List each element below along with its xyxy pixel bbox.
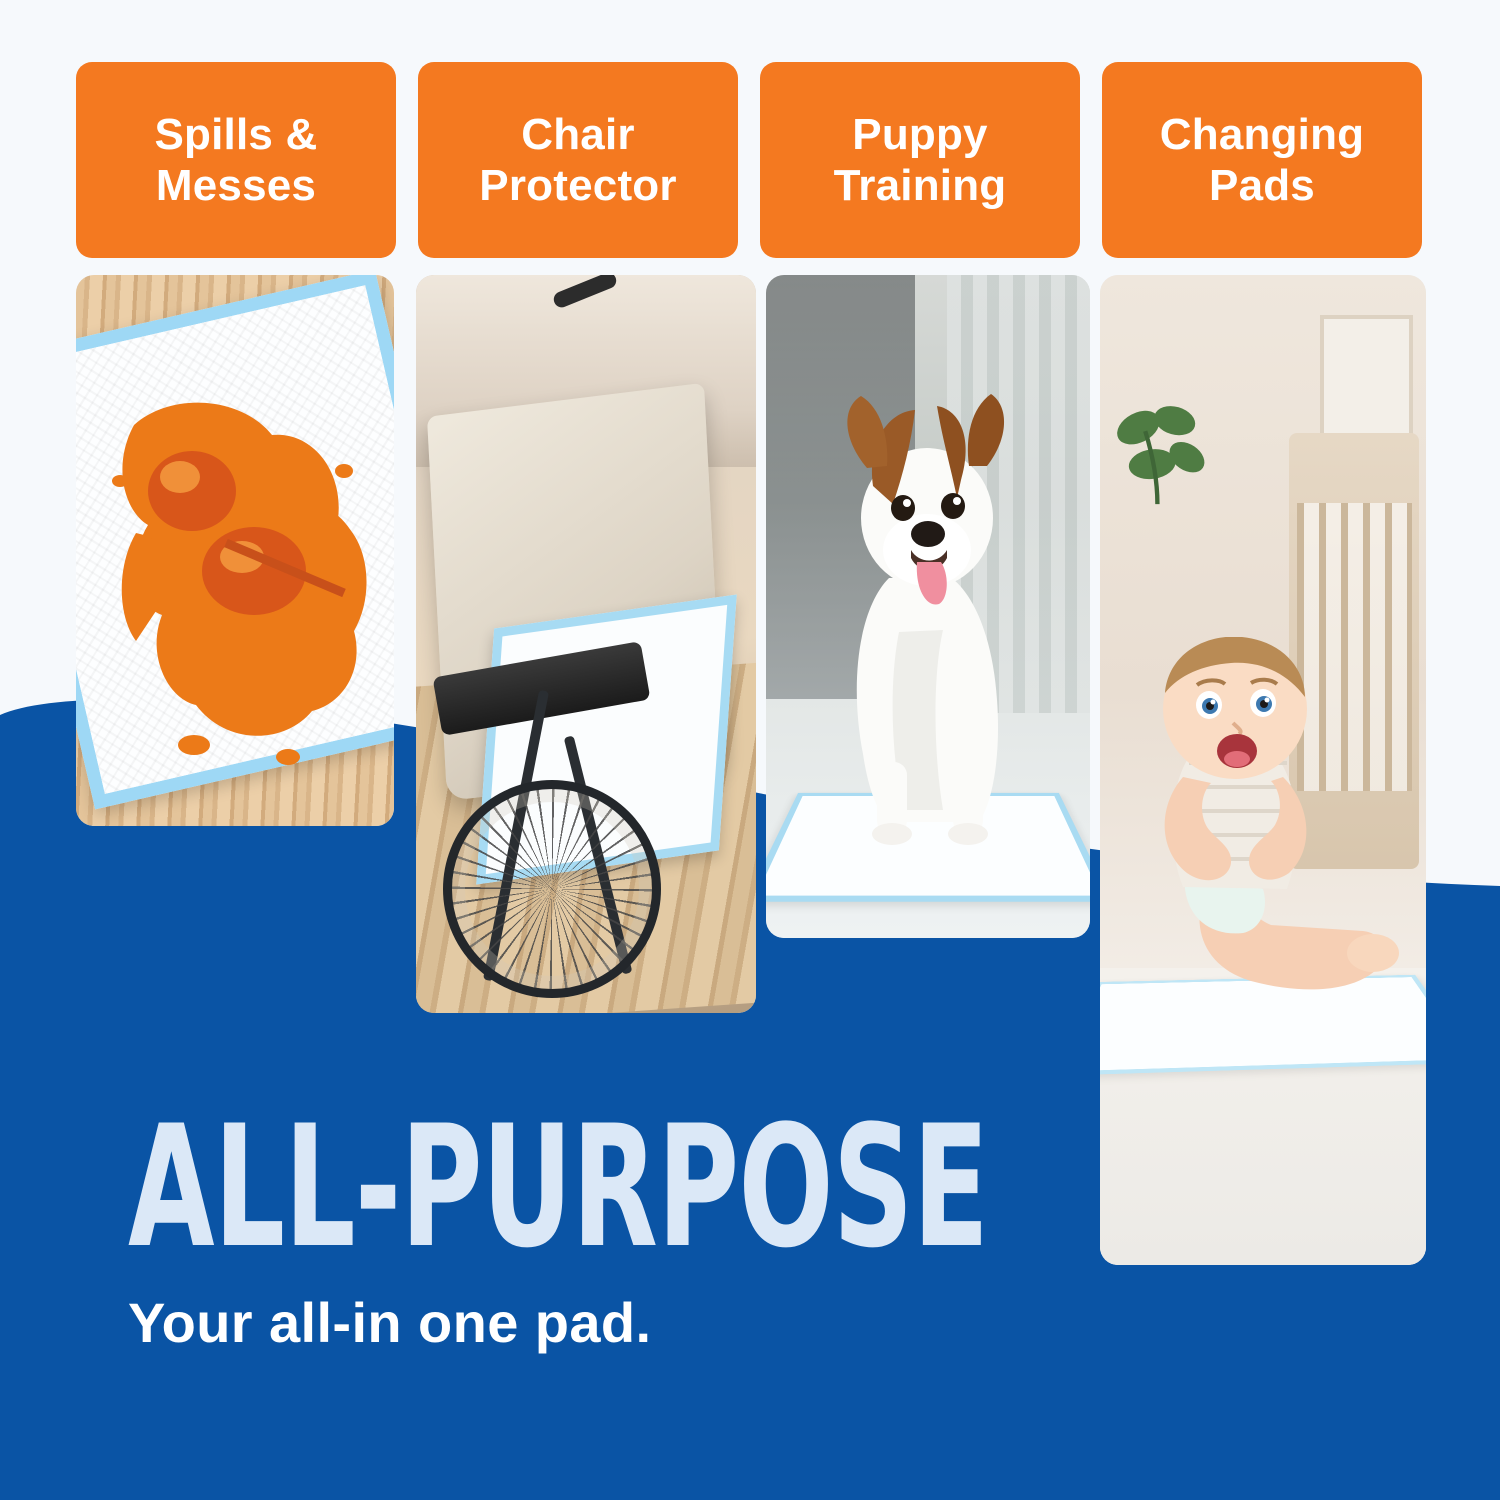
product-banner: Spills & Messes Chair Protector Puppy Tr…: [0, 0, 1500, 1500]
caramel-spill-graphic: [76, 275, 394, 826]
puppy-training-photo: [766, 275, 1090, 938]
wheelchair-wheel: [443, 780, 661, 998]
jack-russell-terrier: [803, 382, 1053, 852]
headline-block: ALL-PURPOSE Your all-in one pad.: [128, 1108, 1128, 1355]
page-subtitle: Your all-in one pad.: [128, 1290, 1128, 1355]
baby-illustration: [1111, 637, 1401, 1067]
plant-icon: [1107, 325, 1211, 582]
wall-art-frame: [1320, 315, 1413, 442]
changing-pads-photo: [1100, 275, 1426, 1265]
chair-protector-photo: [416, 275, 756, 1013]
spills-and-messes-photo: [76, 275, 394, 826]
page-title: ALL-PURPOSE: [128, 1108, 868, 1268]
